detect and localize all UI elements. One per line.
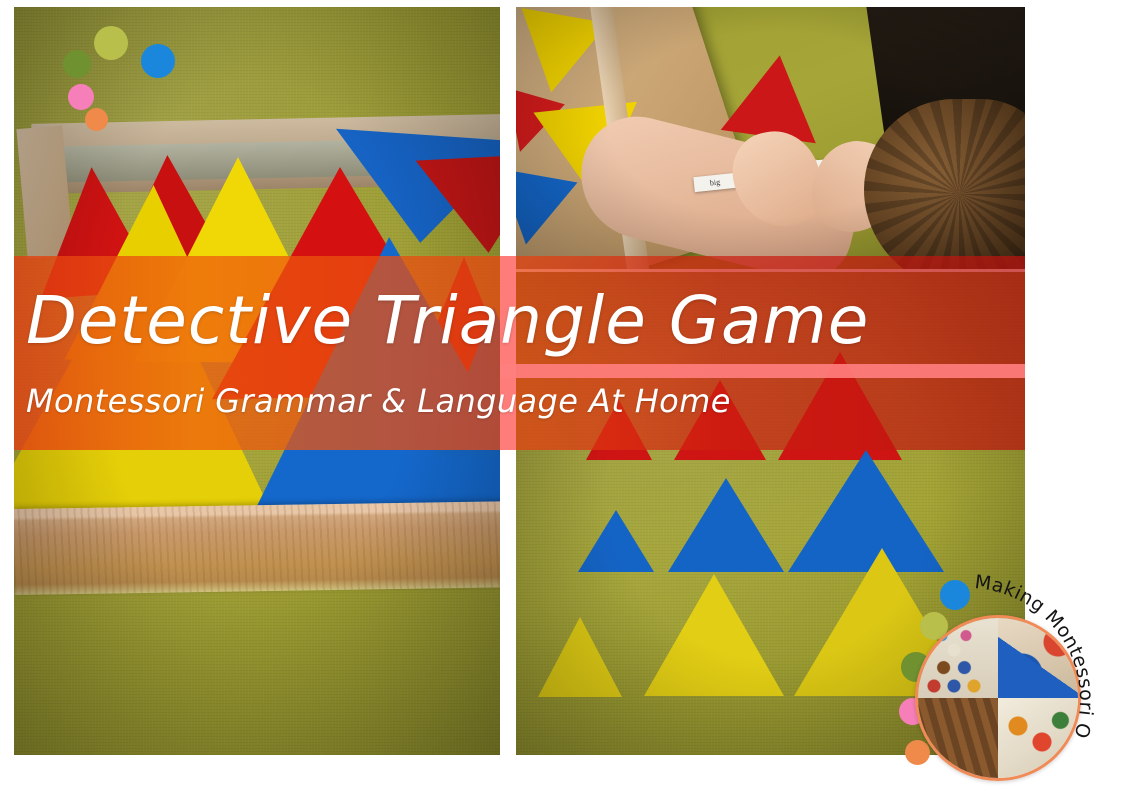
collage-tile-brown-stair (918, 698, 998, 778)
collage-tile-markers (998, 698, 1078, 778)
pinterest-graphic: big red Detective Triangle Game Montesso… (0, 0, 1124, 787)
logo-photo-collage (915, 615, 1081, 781)
brand-logo[interactable]: Making Montessori Ours (900, 570, 1115, 782)
collage-grid (918, 618, 1078, 778)
collage-tile-blue-shapes (998, 618, 1078, 698)
collage-tile-bead-pyramid (918, 618, 998, 698)
